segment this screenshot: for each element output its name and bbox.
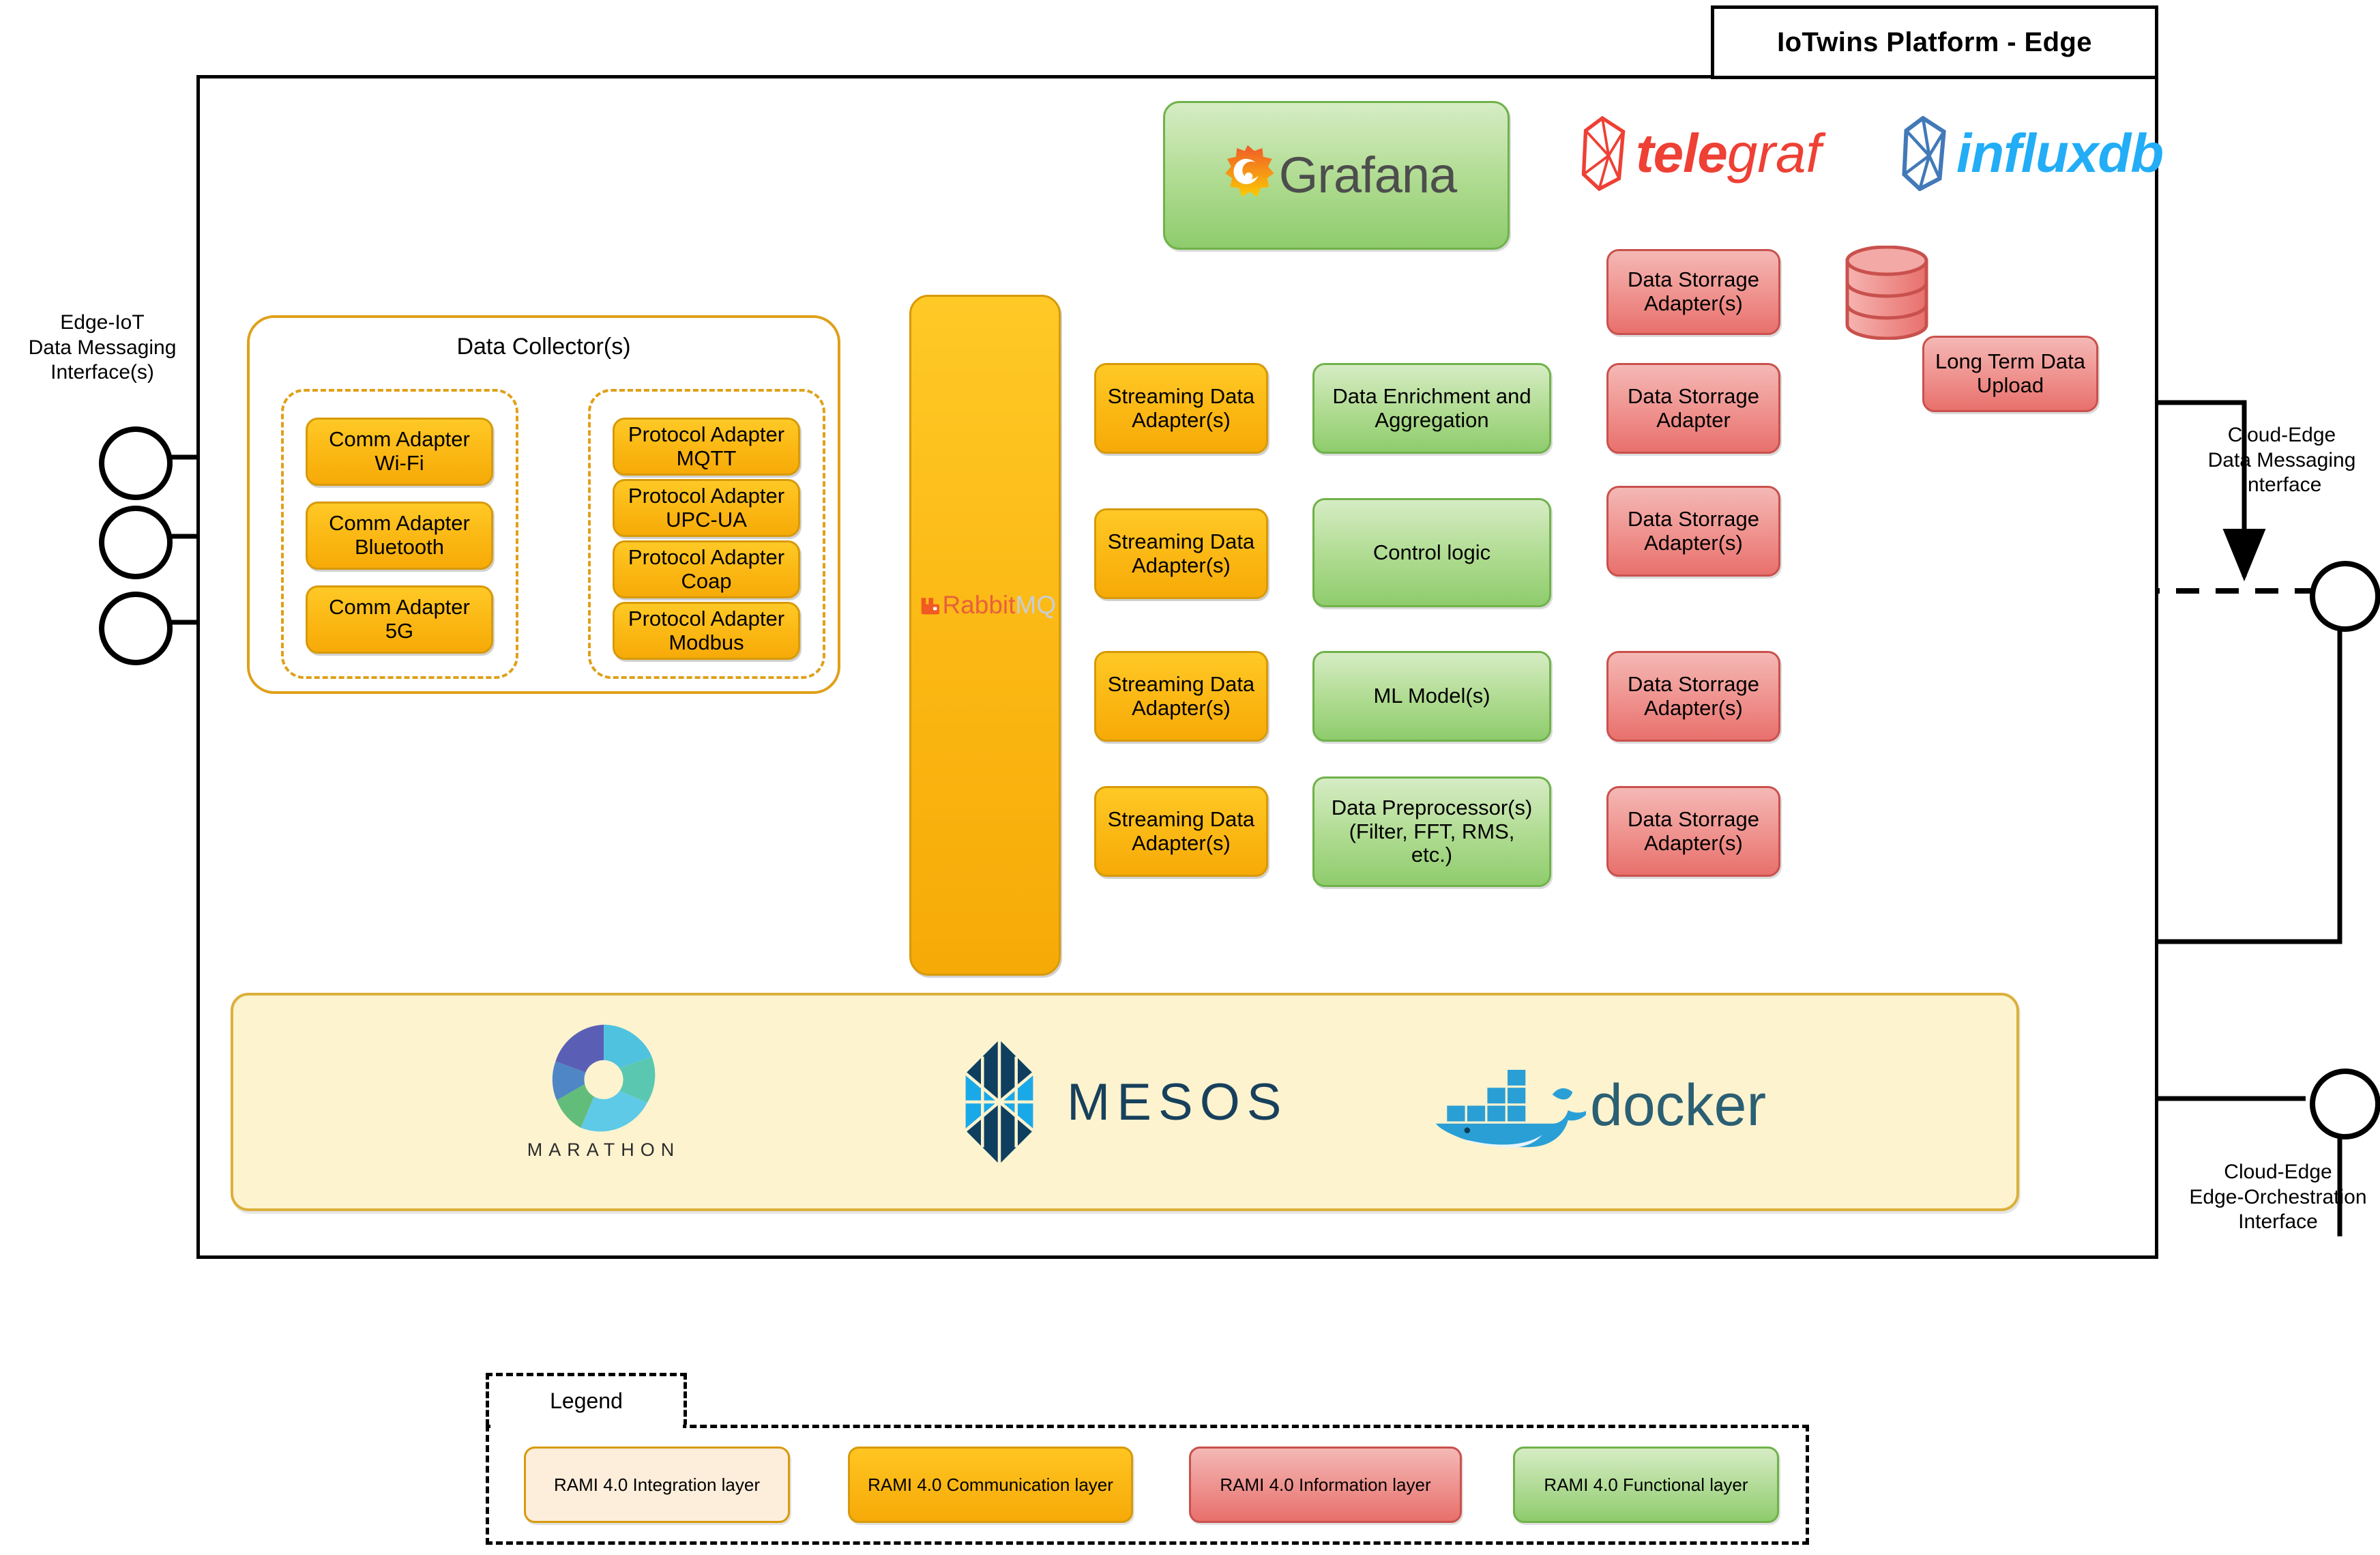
protocol-adapter-mqtt[interactable]: Protocol Adapter MQTT [613,418,800,476]
control-logic-label: Control logic [1373,541,1490,565]
comm-adapter-wifi-line1: Comm Adapter [329,427,470,451]
streaming-adapter-row4-line2: Adapter(s) [1132,831,1231,855]
docker-label: docker [1590,1072,1766,1139]
streaming-data-adapter-row1[interactable]: Streaming Data Adapter(s) [1094,363,1268,454]
influxdb-label: influxdb [1956,122,2163,185]
ml-models-label: ML Model(s) [1373,684,1490,708]
page-title: IoTwins Platform - Edge [1777,27,2092,58]
protocol-adapter-modbus[interactable]: Protocol Adapter Modbus [613,602,800,660]
data-storage-adapter-row2[interactable]: Data Storrage Adapter(s) [1606,486,1780,577]
grafana-panel[interactable]: Grafana [1163,101,1510,250]
protocol-adapter-upcua-line1: Protocol Adapter [628,484,784,508]
streaming-adapter-row1-line1: Streaming Data [1108,384,1254,408]
storage-adapter-row2-line2: Adapter(s) [1644,531,1743,555]
ml-models[interactable]: ML Model(s) [1312,651,1551,742]
cloud-edge-data-line-2: Data Messaging [2183,448,2380,474]
grafana-icon [1216,141,1279,209]
streaming-adapter-row3-line1: Streaming Data [1108,672,1254,696]
legend-label-integration: RAMI 4.0 Integration layer [554,1474,760,1496]
data-preprocessors[interactable]: Data Preprocessor(s) (Filter, FFT, RMS, … [1312,776,1551,887]
marathon-label: MARATHON [518,1139,689,1161]
cloud-edge-orchestration-label: Cloud-Edge Edge-Orchestration Interface [2176,1160,2380,1235]
data-preprocessor-line2: (Filter, FFT, RMS, [1349,819,1515,843]
storage-adapter-row4-line1: Data Storrage [1628,807,1759,831]
control-logic[interactable]: Control logic [1312,498,1551,607]
docker-icon [1429,1049,1586,1162]
data-storage-adapter-top-line2: Adapter(s) [1644,291,1743,315]
comm-adapter-bluetooth-line2: Bluetooth [355,535,444,559]
rabbitmq-message-bus[interactable] [909,295,1061,976]
cloud-edge-data-line-3: Interface [2183,473,2380,498]
grafana-label: Grafana [1279,147,1456,204]
telegraf-label-light: graf [1727,122,1821,185]
streaming-adapter-row3-line2: Adapter(s) [1132,696,1231,720]
comm-adapter-bluetooth-line1: Comm Adapter [329,511,470,535]
streaming-adapter-row4-line1: Streaming Data [1108,807,1254,831]
data-storage-adapter-top[interactable]: Data Storrage Adapter(s) [1606,249,1780,335]
data-collector-title: Data Collector(s) [247,333,840,361]
protocol-adapter-coap-line1: Protocol Adapter [628,545,784,569]
comm-adapter-wifi[interactable]: Comm Adapter Wi-Fi [306,418,493,486]
cloud-edge-data-endpoint[interactable] [2310,561,2380,632]
storage-adapter-row4-line2: Adapter(s) [1644,831,1743,855]
streaming-data-adapter-row2[interactable]: Streaming Data Adapter(s) [1094,508,1268,599]
rabbitmq-logo: Rabbit MQ [920,590,1056,620]
marathon-icon [546,1020,661,1135]
edge-iot-endpoint-1[interactable] [99,426,173,500]
influxdb-brand: influxdb [1896,109,2163,198]
telegraf-icon [1576,116,1629,191]
protocol-adapter-upcua[interactable]: Protocol Adapter UPC-UA [613,479,800,537]
storage-adapter-row3-line2: Adapter(s) [1644,696,1743,720]
legend-title: Legend [550,1389,623,1414]
edge-iot-interface-label: Edge-IoT Data Messaging Interface(s) [0,310,205,386]
influxdb-icon [1896,116,1950,191]
protocol-adapter-coap-line2: Coap [681,569,731,593]
platform-title-tab: IoTwins Platform - Edge [1711,5,2158,79]
rabbitmq-label-mq: MQ [1015,591,1056,620]
data-storage-adapter-top-line1: Data Storrage [1628,267,1759,291]
telegraf-label-bold: tele [1636,122,1727,185]
data-enrichment-line1: Data Enrichment and [1332,384,1531,408]
edge-iot-line-1: Edge-IoT [0,310,205,336]
protocol-adapter-upcua-line2: UPC-UA [666,508,747,532]
comm-adapter-bluetooth[interactable]: Comm Adapter Bluetooth [306,502,493,570]
protocol-adapter-modbus-line2: Modbus [669,630,744,654]
cloud-edge-orch-line-2: Edge-Orchestration [2176,1185,2380,1210]
comm-adapter-5g-line1: Comm Adapter [329,595,470,619]
streaming-data-adapter-row3[interactable]: Streaming Data Adapter(s) [1094,651,1268,742]
edge-iot-endpoint-2[interactable] [99,506,173,579]
streaming-adapter-row1-line2: Adapter(s) [1132,408,1231,432]
data-preprocessor-line1: Data Preprocessor(s) [1332,796,1533,819]
rabbitmq-label-rabbit: Rabbit [942,591,1015,620]
cloud-edge-orch-line-1: Cloud-Edge [2176,1160,2380,1185]
legend-swatch-information: RAMI 4.0 Information layer [1189,1447,1462,1523]
cloud-edge-data-line-1: Cloud-Edge [2183,423,2380,448]
cloud-edge-orch-line-3: Interface [2176,1210,2380,1235]
legend-label-communication: RAMI 4.0 Communication layer [868,1474,1113,1496]
long-term-upload-line1: Long Term Data [1935,349,2085,373]
comm-adapter-wifi-line2: Wi-Fi [374,451,424,475]
telegraf-brand: tele graf [1576,109,1821,198]
protocol-adapter-coap[interactable]: Protocol Adapter Coap [613,540,800,598]
edge-iot-endpoint-3[interactable] [99,592,173,665]
database-cylinder-icon [1842,246,1932,340]
comm-adapter-5g-line2: 5G [385,619,413,643]
protocol-adapter-mqtt-line1: Protocol Adapter [628,422,784,446]
storage-adapter-row1-line2: Adapter [1656,408,1731,432]
data-storage-adapter-row4[interactable]: Data Storrage Adapter(s) [1606,786,1780,877]
edge-iot-line-2: Data Messaging [0,336,205,361]
protocol-adapter-mqtt-line2: MQTT [677,446,737,470]
legend-label-functional: RAMI 4.0 Functional layer [1544,1474,1748,1496]
streaming-adapter-row2-line1: Streaming Data [1108,529,1254,553]
streaming-adapter-row2-line2: Adapter(s) [1132,553,1231,577]
data-preprocessor-line3: etc.) [1411,843,1452,867]
storage-adapter-row1-line1: Data Storrage [1628,384,1759,408]
legend-tab: Legend [486,1373,687,1426]
data-enrichment-line2: Aggregation [1375,408,1488,432]
legend-swatch-functional: RAMI 4.0 Functional layer [1513,1447,1779,1523]
mesos-icon [941,1037,1057,1167]
cloud-edge-data-messaging-label: Cloud-Edge Data Messaging Interface [2183,423,2380,498]
legend-label-information: RAMI 4.0 Information layer [1220,1474,1430,1496]
legend-tab-mask [490,1421,683,1428]
comm-adapter-5g[interactable]: Comm Adapter 5G [306,585,493,654]
data-storage-adapter-row1[interactable]: Data Storrage Adapter [1606,363,1780,454]
rabbitmq-icon [920,590,939,620]
grafana-brand: Grafana [1216,141,1456,209]
long-term-data-upload[interactable]: Long Term Data Upload [1922,336,2098,412]
storage-adapter-row3-line1: Data Storrage [1628,672,1759,696]
docker-brand: docker [1429,1044,1766,1167]
protocol-adapter-modbus-line1: Protocol Adapter [628,607,784,630]
data-enrichment-aggregation[interactable]: Data Enrichment and Aggregation [1312,363,1551,454]
marathon-brand: MARATHON [518,1020,689,1184]
long-term-upload-line2: Upload [1977,373,2044,397]
mesos-brand: MESOS [941,1037,1289,1167]
cloud-edge-orchestration-endpoint[interactable] [2310,1069,2380,1139]
storage-adapter-row2-line1: Data Storrage [1628,507,1759,531]
mesos-label: MESOS [1067,1073,1289,1132]
legend-swatch-communication: RAMI 4.0 Communication layer [848,1447,1133,1523]
edge-iot-line-3: Interface(s) [0,360,205,386]
data-storage-adapter-row3[interactable]: Data Storrage Adapter(s) [1606,651,1780,742]
streaming-data-adapter-row4[interactable]: Streaming Data Adapter(s) [1094,786,1268,877]
legend-swatch-integration: RAMI 4.0 Integration layer [524,1447,790,1523]
